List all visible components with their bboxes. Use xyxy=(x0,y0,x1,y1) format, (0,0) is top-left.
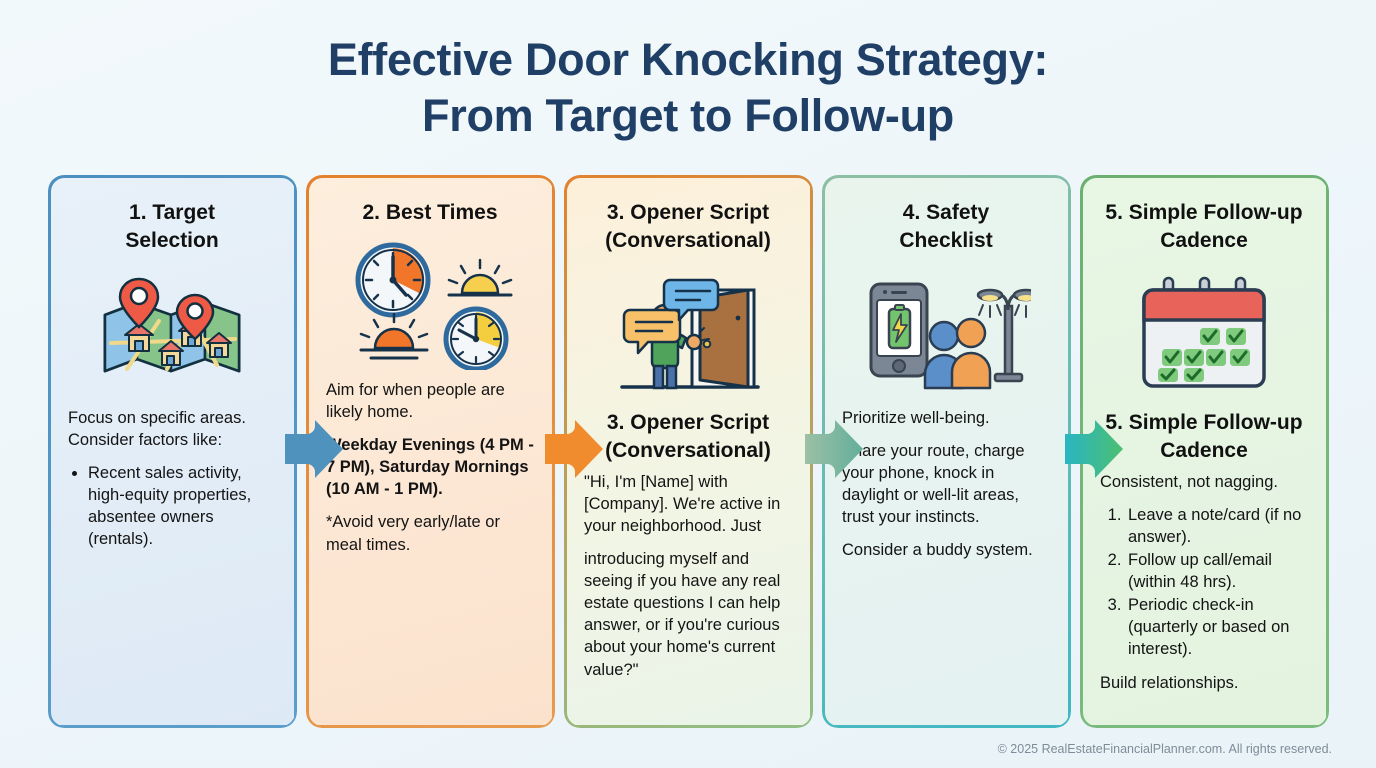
page-title-line-1: Effective Door Knocking Strategy: xyxy=(0,32,1376,88)
card-body-followup-cadence: Consistent, not nagging. Leave a note/ca… xyxy=(1100,471,1308,694)
card-title-repeat-followup-cadence: 5. Simple Follow-up Cadence xyxy=(1100,409,1308,465)
card-title-best-times: 2. Best Times xyxy=(326,199,534,227)
clocks-and-sun-icon xyxy=(326,237,534,373)
card-closing: *Avoid very early/late or meal times. xyxy=(326,511,534,555)
card-title-repeat-opener-script: 3. Opener Script (Conversational) xyxy=(584,409,792,465)
card-intro: "Hi, I'm [Name] with [Company]. We're ac… xyxy=(584,471,792,537)
card-paragraph: introducing myself and seeing if you hav… xyxy=(584,548,792,681)
card-body-opener-script: "Hi, I'm [Name] with [Company]. We're ac… xyxy=(584,471,792,681)
arrow-1-to-2 xyxy=(283,418,345,480)
card-paragraph: Share your route, charge your phone, kno… xyxy=(842,440,1050,528)
card-intro: Focus on specific areas. Consider factor… xyxy=(68,407,276,451)
card-closing: Consider a buddy system. xyxy=(842,539,1050,561)
calendar-with-checkmarks-icon xyxy=(1100,265,1308,401)
card-bullet-list: Recent sales activity, high-equity prope… xyxy=(88,462,276,550)
card-step-list: Leave a note/card (if no answer). Follow… xyxy=(1126,504,1308,661)
arrow-4-to-5 xyxy=(1063,418,1125,480)
list-item: Recent sales activity, high-equity prope… xyxy=(88,462,276,550)
card-closing: Build relationships. xyxy=(1100,672,1308,694)
person-knocking-door-icon xyxy=(584,265,792,401)
arrow-2-to-3 xyxy=(543,418,605,480)
step-card-rail: 1. Target Selection xyxy=(48,175,1328,727)
map-with-location-pins-icon xyxy=(68,265,276,401)
list-item: Periodic check-in (quarterly or based on… xyxy=(1126,594,1308,660)
card-intro: Aim for when people are likely home. xyxy=(326,379,534,423)
list-item: Follow up call/email (within 48 hrs). xyxy=(1126,549,1308,593)
card-body-safety-checklist: Prioritize well-being. Share your route,… xyxy=(842,407,1050,562)
copyright-footer: © 2025 RealEstateFinancialPlanner.com. A… xyxy=(998,742,1332,756)
card-intro: Consistent, not nagging. xyxy=(1100,471,1308,493)
page-title-line-2: From Target to Follow-up xyxy=(0,88,1376,144)
page-title: Effective Door Knocking Strategy: From T… xyxy=(0,0,1376,145)
card-intro: Prioritize well-being. xyxy=(842,407,1050,429)
list-item: Leave a note/card (if no answer). xyxy=(1126,504,1308,548)
phone-people-streetlamp-icon xyxy=(842,265,1050,401)
card-title-safety-checklist: 4. Safety Checklist xyxy=(842,199,1050,255)
arrow-3-to-4 xyxy=(803,418,865,480)
card-body-best-times: Aim for when people are likely home. Wee… xyxy=(326,379,534,556)
card-title-target-selection: 1. Target Selection xyxy=(68,199,276,255)
card-title-followup-cadence: 5. Simple Follow-up Cadence xyxy=(1100,199,1308,255)
card-title-opener-script: 3. Opener Script (Conversational) xyxy=(584,199,792,255)
card-target-selection[interactable]: 1. Target Selection xyxy=(48,175,296,727)
card-body-target-selection: Focus on specific areas. Consider factor… xyxy=(68,407,276,553)
card-bold-line: Weekday Evenings (4 PM - 7 PM), Saturday… xyxy=(326,434,534,500)
